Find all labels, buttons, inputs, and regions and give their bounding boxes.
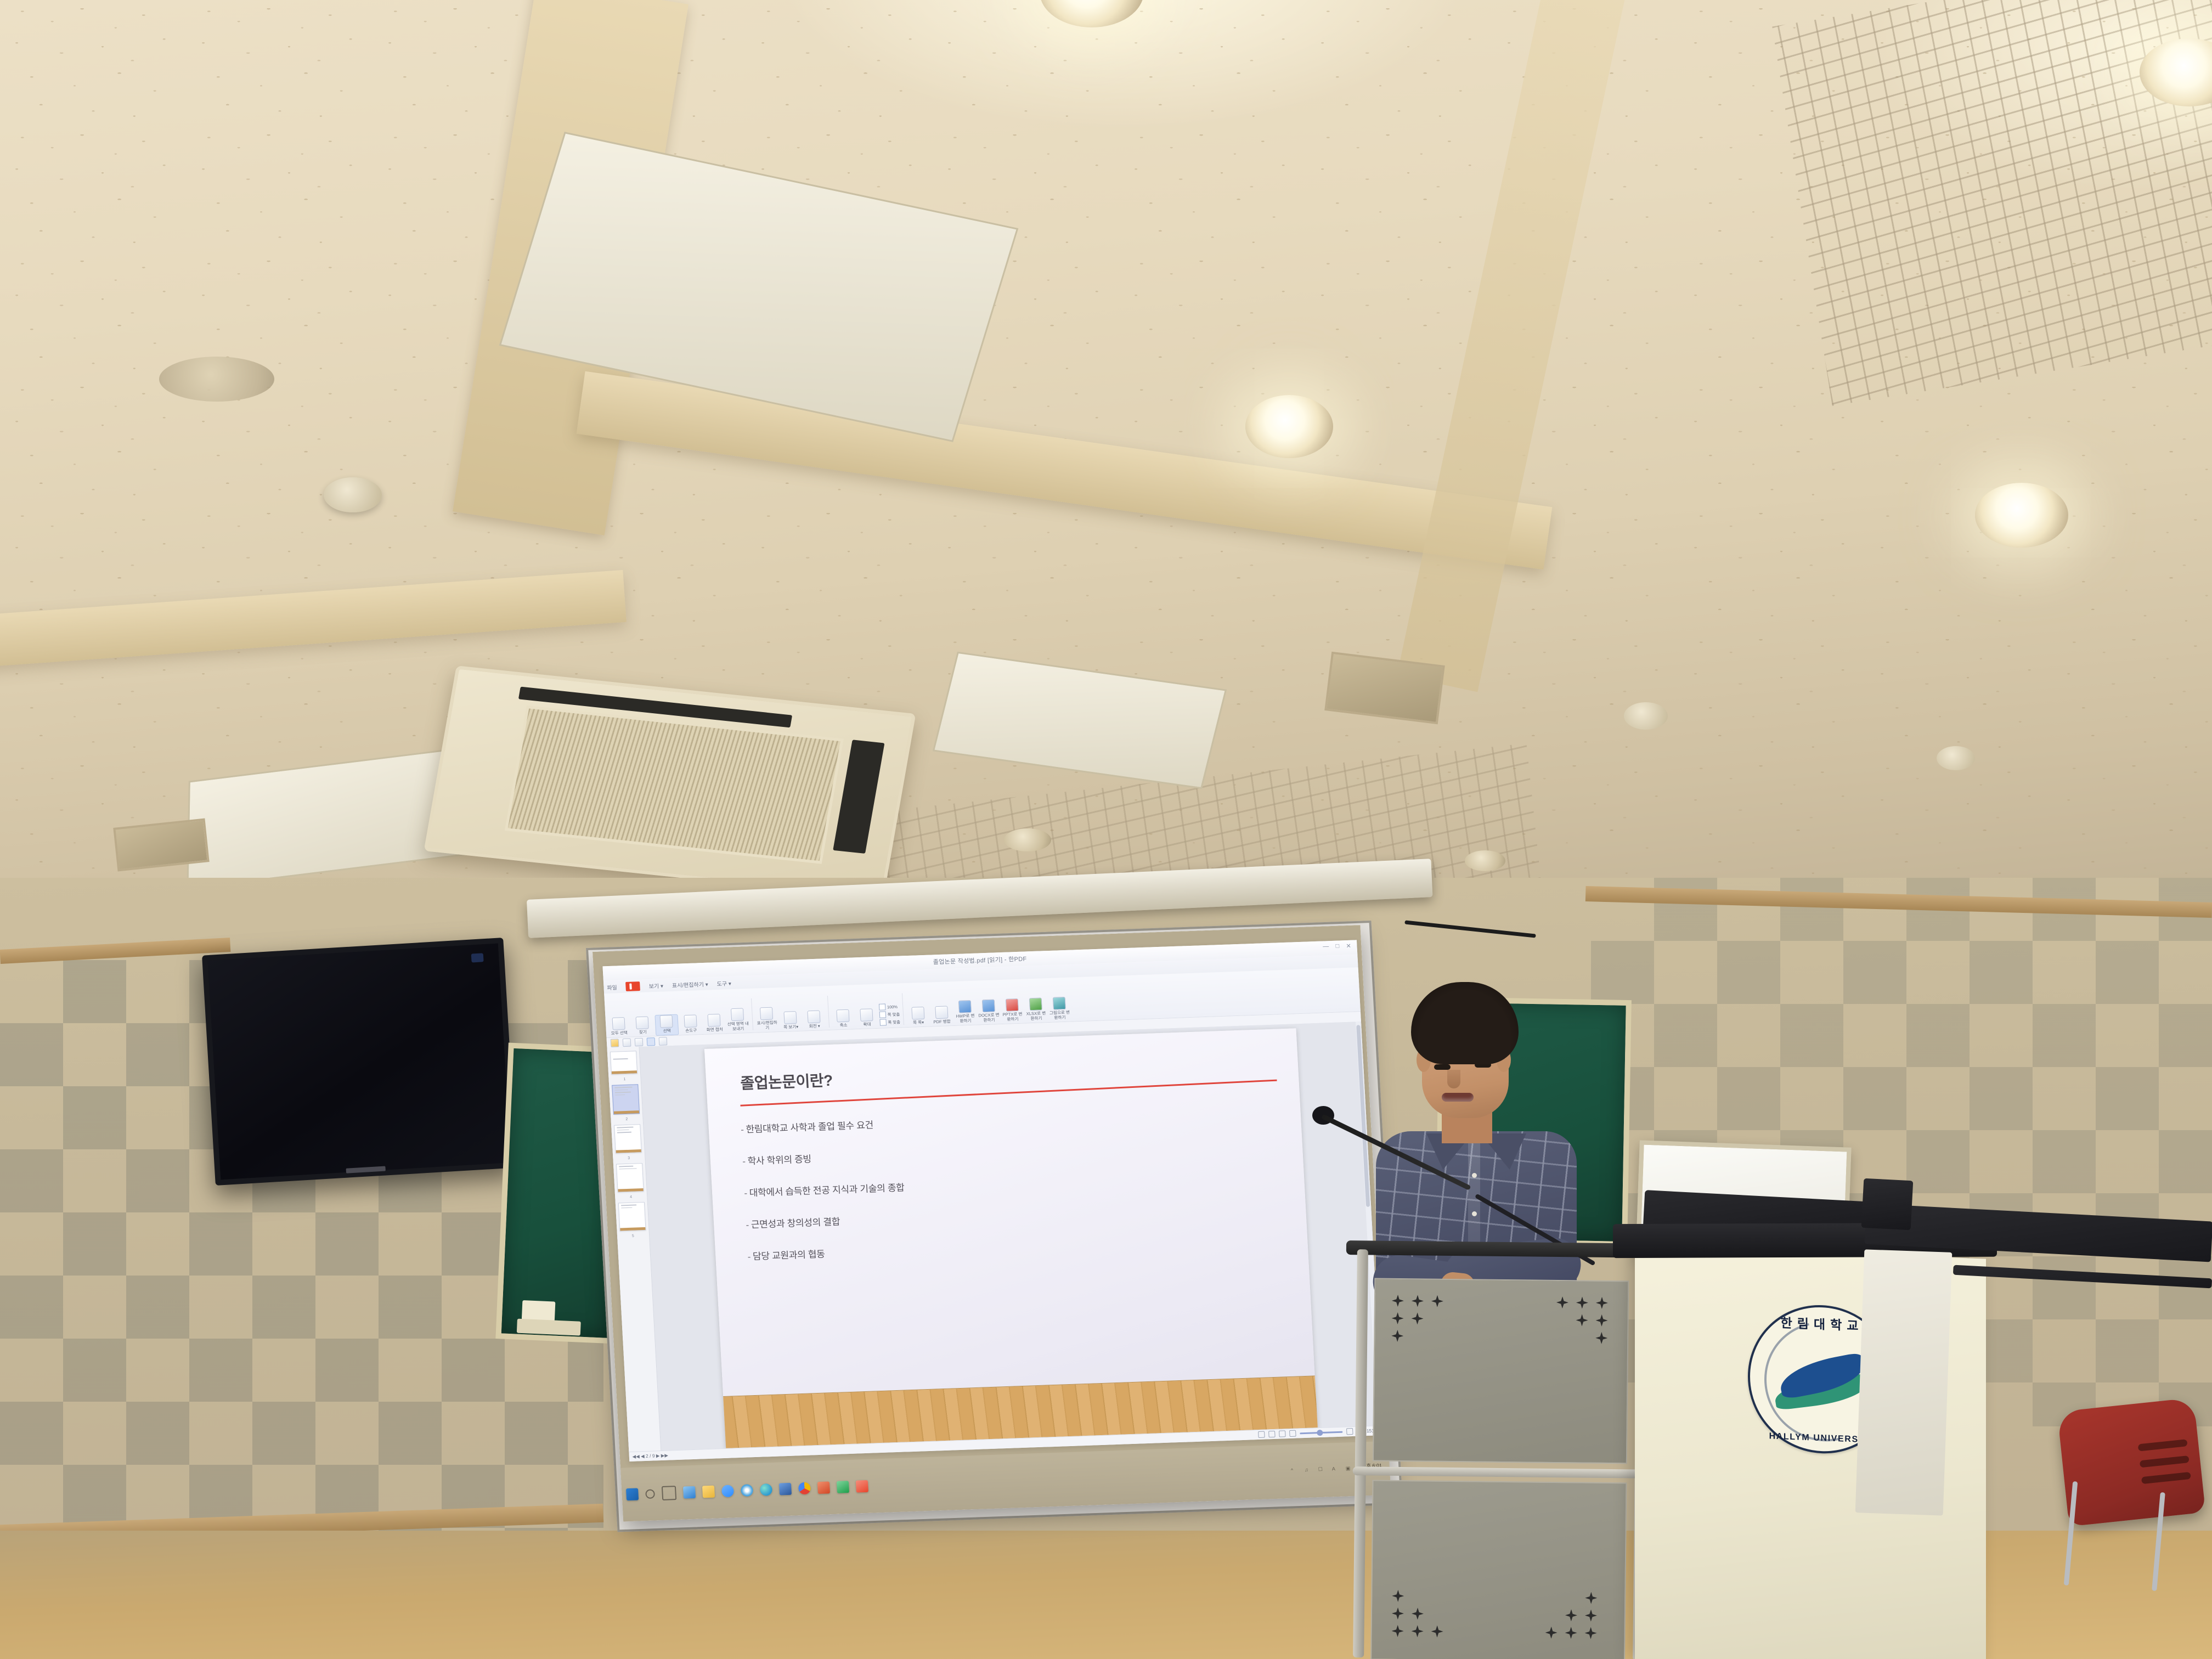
- print-icon[interactable]: [634, 1038, 643, 1047]
- internet-explorer-icon[interactable]: [741, 1484, 753, 1497]
- search-icon[interactable]: [645, 1489, 655, 1499]
- lectern-perforation: [1392, 1590, 1404, 1602]
- chair-back-slot: [2138, 1439, 2188, 1451]
- thumbnail-number: 3: [628, 1156, 630, 1160]
- single-page-view-icon[interactable]: [1258, 1431, 1265, 1438]
- save-icon[interactable]: [622, 1039, 631, 1047]
- ceiling-downlight-3: [1975, 483, 2068, 548]
- lectern-perforation: [1391, 1330, 1403, 1342]
- presenter-hair: [1411, 982, 1519, 1064]
- presenter-nose: [1447, 1070, 1460, 1088]
- ribbon-divider: [902, 993, 904, 1025]
- convert-image-icon: [1052, 997, 1065, 1010]
- ceiling-downlight-2: [1245, 395, 1333, 458]
- ribbon-button-convert-xlsx[interactable]: XLSX로 변환하기: [1024, 997, 1047, 1023]
- find-icon: [636, 1016, 649, 1029]
- fit-option-width: 폭 맞춤: [879, 1019, 900, 1026]
- chair-back-slot: [2140, 1455, 2190, 1468]
- ribbon-button-screen-capture[interactable]: 화면 캡처: [703, 1013, 726, 1034]
- page-layout-icon: [911, 1006, 924, 1019]
- lectern-mid-rail: [1353, 1466, 1645, 1479]
- lectern-perforation: [1412, 1625, 1424, 1637]
- lectern-perforation: [1392, 1295, 1404, 1307]
- convert-xlsx-icon: [1029, 997, 1042, 1011]
- ribbon-fit-options[interactable]: 100% 쪽 맞춤 폭 맞춤: [879, 1003, 901, 1028]
- menu-view[interactable]: 보기 ▾: [648, 981, 663, 990]
- lectern-perforation: [1595, 1314, 1607, 1327]
- zoom-slider[interactable]: [1300, 1431, 1342, 1434]
- rotate-icon: [808, 1010, 821, 1023]
- projected-desktop: 졸업논문 작성법.pdf [읽기] - 한PDF — □ ✕ 파일 보기 ▾ 표…: [592, 925, 1391, 1521]
- page-thumbnail-selected[interactable]: [612, 1084, 640, 1115]
- page-display-area: 졸업논문이란? -한림대학교 사학과 졸업 필수 요건 -학사 학위의 증빙: [639, 1022, 1383, 1451]
- select-tool-icon[interactable]: [646, 1037, 655, 1046]
- convert-docx-icon: [982, 999, 995, 1012]
- presenter-shirt-button: [1472, 1173, 1477, 1178]
- edge-icon[interactable]: [760, 1483, 772, 1496]
- thumb-floor-band: [620, 1227, 645, 1231]
- lectern-perforation: [1576, 1314, 1588, 1326]
- ceiling-sensor-right: [1624, 702, 1668, 730]
- powerpoint-icon[interactable]: [817, 1481, 830, 1494]
- convert-pptx-icon: [1005, 998, 1018, 1012]
- ceiling-downlight-5: [159, 357, 274, 402]
- shape-tool-icon[interactable]: [658, 1037, 667, 1046]
- fit-page-icon: [879, 1011, 886, 1018]
- thumb-floor-band: [612, 1070, 637, 1074]
- page-thumbnail[interactable]: [616, 1163, 644, 1193]
- export-region-icon: [731, 1008, 744, 1021]
- ribbon-label: 확대: [863, 1022, 871, 1027]
- word-icon[interactable]: [779, 1483, 792, 1496]
- presenter-mouth: [1442, 1093, 1474, 1102]
- lectern-perforation: [1576, 1296, 1588, 1308]
- explorer-icon[interactable]: [683, 1486, 696, 1499]
- bullet-marker: -: [747, 1251, 751, 1262]
- slide-bullet: -학사 학위의 증빙: [742, 1134, 1303, 1167]
- ribbon-label: 손도구: [685, 1028, 697, 1033]
- lectern-perforation: [1412, 1607, 1424, 1620]
- lectern-perforation: [1545, 1627, 1557, 1639]
- select-all-icon: [612, 1017, 625, 1030]
- page-thumbnail[interactable]: [614, 1124, 642, 1154]
- bullet-marker: -: [742, 1156, 746, 1166]
- lectern-perforation: [1584, 1627, 1596, 1639]
- ribbon-label: 화면 캡처: [707, 1027, 724, 1032]
- ribbon-button-rotate[interactable]: 회전 ▾: [803, 1010, 826, 1031]
- fit-100-icon: [879, 1003, 886, 1010]
- pointer-icon: [660, 1014, 673, 1028]
- ribbon-label: 찾기: [639, 1030, 647, 1035]
- convert-hwp-icon: [958, 1000, 972, 1013]
- annotate-icon: [760, 1007, 773, 1020]
- ribbon-label: 선택 영역 내보내기: [727, 1022, 749, 1031]
- slide-bullet: -대학에서 습득한 전공 지식과 기술의 종합: [744, 1166, 1305, 1199]
- lectern-perforation: [1411, 1312, 1423, 1324]
- ribbon-label: 모두 선택: [611, 1030, 628, 1036]
- ribbon-button-find[interactable]: 찾기: [631, 1016, 654, 1037]
- ribbon-button-page-layout[interactable]: 쪽 쪽▾: [907, 1006, 930, 1027]
- thumbnail-number: 2: [625, 1118, 628, 1121]
- ribbon-button-convert-docx[interactable]: DOCX로 변환하기: [977, 999, 1000, 1024]
- fit-option-100: 100%: [879, 1003, 900, 1011]
- menu-file[interactable]: 파일: [607, 983, 617, 991]
- hand-tool-icon: [684, 1014, 697, 1028]
- lecture-hall-photo: 졸업논문 작성법.pdf [읽기] - 한PDF — □ ✕ 파일 보기 ▾ 표…: [0, 0, 2212, 1659]
- lectern-perforation: [1565, 1627, 1577, 1639]
- hancom-icon[interactable]: [837, 1481, 849, 1493]
- ribbon-label: 축소: [839, 1023, 847, 1028]
- slide-bullet-list: -한림대학교 사학과 졸업 필수 요건 -학사 학위의 증빙 -대학에서 습득한…: [708, 1084, 1315, 1396]
- ribbon-label: HWP로 변환하기: [954, 1014, 977, 1024]
- ribbon-label: PPTX로 변환하기: [1001, 1012, 1024, 1022]
- zoom-in-icon: [860, 1008, 873, 1022]
- windows-start-icon[interactable]: [626, 1488, 639, 1501]
- fit-option-page: 쪽 맞춤: [879, 1011, 900, 1018]
- ribbon-divider: [751, 998, 753, 1030]
- bullet-marker: -: [746, 1220, 749, 1230]
- ceiling-speaker-left: [1004, 828, 1051, 851]
- lectern-perforation: [1585, 1610, 1597, 1622]
- av-cabinet: [1855, 1249, 1953, 1515]
- ceiling-sensor-far-right: [1937, 746, 1975, 770]
- pdf-viewer-window: 졸업논문 작성법.pdf [읽기] - 한PDF — □ ✕ 파일 보기 ▾ 표…: [602, 940, 1383, 1461]
- lectern-perforation: [1595, 1332, 1607, 1344]
- chrome-icon[interactable]: [798, 1482, 811, 1495]
- wall-mounted-display[interactable]: [202, 938, 517, 1186]
- metal-lectern: [1347, 1249, 1659, 1659]
- lectern-perforation: [1431, 1626, 1443, 1638]
- ribbon-button-convert-pptx[interactable]: PPTX로 변환하기: [1001, 998, 1024, 1024]
- av-equipment-box: [1861, 1178, 1914, 1231]
- ribbon-button-annotate[interactable]: 표시/편집하기: [755, 1007, 778, 1032]
- presenter-eye-left: [1434, 1064, 1451, 1070]
- ceiling-speaker-right: [1465, 850, 1505, 871]
- document-work-area: 1 2: [607, 1022, 1383, 1452]
- ribbon-button-pdf-merge[interactable]: PDF 병합: [930, 1006, 953, 1026]
- thumb-floor-band: [616, 1149, 641, 1153]
- ribbon-button-hand-tool[interactable]: 손도구: [679, 1014, 702, 1035]
- slide-bullet: -한림대학교 사학과 졸업 필수 요건: [740, 1102, 1301, 1136]
- page-thumbnail[interactable]: [618, 1202, 646, 1232]
- ribbon-label: XLSX로 변환하기: [1025, 1011, 1047, 1021]
- pdf-merge-icon: [935, 1006, 948, 1019]
- ribbon-label: 회전 ▾: [809, 1024, 820, 1029]
- hanpdf-icon[interactable]: [856, 1480, 868, 1493]
- window-title: 졸업논문 작성법.pdf [읽기] - 한PDF: [933, 954, 1027, 966]
- bullet-text: 담당 교원과의 협동: [753, 1249, 826, 1262]
- lectern-perforation: [1392, 1625, 1404, 1637]
- ribbon-label: 그림으로 변환하기: [1048, 1011, 1071, 1020]
- minimize-icon[interactable]: —: [1323, 943, 1329, 950]
- thumb-floor-band: [618, 1188, 643, 1192]
- file-manager-icon[interactable]: [702, 1486, 715, 1498]
- chalk-eraser[interactable]: [522, 1300, 556, 1322]
- thumb-floor-band: [614, 1110, 639, 1114]
- page-view-icon: [784, 1011, 797, 1024]
- thumbnail-number: 4: [630, 1195, 632, 1199]
- projection-screen: 졸업논문 작성법.pdf [읽기] - 한PDF — □ ✕ 파일 보기 ▾ 표…: [592, 925, 1391, 1521]
- chalk-tray: [517, 1319, 581, 1336]
- ime-icon[interactable]: A: [1332, 1466, 1340, 1474]
- smoke-detector-icon: [324, 477, 382, 512]
- lectern-post-left: [1353, 1249, 1368, 1657]
- ribbon-button-zoom-in[interactable]: 확대: [855, 1008, 878, 1029]
- fit-width-icon: [879, 1019, 887, 1025]
- lectern-perforation: [1391, 1312, 1403, 1324]
- bullet-text: 학사 학위의 증빙: [747, 1154, 811, 1166]
- lectern-panel-upper: [1373, 1278, 1629, 1464]
- ac-vent-slot-right: [833, 740, 884, 854]
- bullet-text: 대학에서 습득한 전공 지식과 기술의 종합: [749, 1182, 905, 1198]
- zoom-app-icon[interactable]: [721, 1485, 734, 1498]
- ribbon-label: DOCX로 변환하기: [978, 1013, 1000, 1023]
- red-chair[interactable]: [2057, 1398, 2206, 1527]
- app-logo-icon: [625, 981, 640, 991]
- lectern-perforation: [1392, 1607, 1404, 1620]
- lectern-perforation: [1412, 1295, 1424, 1307]
- task-view-icon[interactable]: [662, 1486, 676, 1500]
- close-icon[interactable]: ✕: [1346, 943, 1351, 950]
- bullet-marker: -: [744, 1188, 747, 1198]
- presenter-shirt-button: [1472, 1211, 1477, 1216]
- ribbon-button-convert-image[interactable]: 그림으로 변환하기: [1048, 997, 1071, 1022]
- thumbnail-number: 1: [623, 1077, 625, 1081]
- lectern-perforation: [1585, 1592, 1597, 1604]
- ribbon-label: 표시/편집하기: [756, 1020, 778, 1030]
- menu-tools[interactable]: 도구 ▾: [716, 979, 731, 988]
- ribbon-button-pointer[interactable]: 선택: [654, 1014, 679, 1036]
- lectern-perforation: [1565, 1609, 1577, 1621]
- chair-back-slot: [2141, 1472, 2191, 1484]
- open-file-icon[interactable]: [610, 1039, 619, 1047]
- ribbon-label: 쪽 쪽▾: [913, 1020, 924, 1025]
- bullet-text: 한림대학교 사학과 졸업 필수 요건: [746, 1120, 873, 1135]
- lectern-perforation: [1596, 1297, 1608, 1309]
- fullscreen-icon[interactable]: [1289, 1430, 1296, 1437]
- continuous-view-icon[interactable]: [1268, 1431, 1276, 1437]
- chevron-up-icon[interactable]: ^: [1291, 1468, 1299, 1475]
- window-controls[interactable]: — □ ✕: [1323, 943, 1351, 951]
- ribbon-label: 쪽 보기▾: [783, 1024, 798, 1029]
- lectern-perforation: [1556, 1296, 1568, 1308]
- ribbon-divider: [827, 996, 830, 1028]
- ribbon-label: 선택: [663, 1029, 671, 1034]
- zoom-out-icon: [837, 1009, 850, 1022]
- lectern-perforation: [1431, 1295, 1443, 1307]
- bluetooth-icon[interactable]: ♫: [1305, 1467, 1313, 1475]
- menu-annotate[interactable]: 표시/편집하기 ▾: [672, 979, 708, 989]
- bullet-marker: -: [741, 1125, 744, 1135]
- ribbon-button-convert-hwp[interactable]: HWP로 변환하기: [953, 1000, 977, 1025]
- slide-bullet: -담당 교원과의 협동: [747, 1229, 1308, 1263]
- lectern-panel-lower: [1370, 1480, 1627, 1659]
- maximize-icon[interactable]: □: [1335, 943, 1340, 950]
- display-screen: [208, 944, 511, 1180]
- ac-grille: [505, 706, 844, 864]
- ribbon-button-zoom-out[interactable]: 축소: [832, 1009, 855, 1030]
- network-icon[interactable]: ☐: [1318, 1466, 1327, 1474]
- page-navigation[interactable]: ◀◀ ◀ 2 / 9 ▶ ▶▶: [632, 1452, 668, 1459]
- ribbon-label: PDF 병합: [933, 1019, 951, 1025]
- display-power-led-icon: [471, 953, 484, 962]
- screen-capture-icon: [708, 1013, 721, 1026]
- bullet-text: 근면성과 창의성의 결합: [751, 1217, 840, 1231]
- ribbon-button-select-all[interactable]: 모두 선택: [607, 1017, 630, 1037]
- ribbon-button-export-region[interactable]: 선택 영역 내보내기: [726, 1008, 749, 1033]
- thumbnail-number: 5: [632, 1234, 634, 1238]
- page-thumbnail[interactable]: [610, 1051, 637, 1075]
- slide-page: 졸업논문이란? -한림대학교 사학과 졸업 필수 요건 -학사 학위의 증빙: [704, 1028, 1318, 1448]
- facing-page-view-icon[interactable]: [1279, 1431, 1286, 1437]
- slide-bullet: -근면성과 창의성의 결합: [746, 1198, 1306, 1231]
- ribbon-button-page-view[interactable]: 쪽 보기▾: [779, 1011, 802, 1031]
